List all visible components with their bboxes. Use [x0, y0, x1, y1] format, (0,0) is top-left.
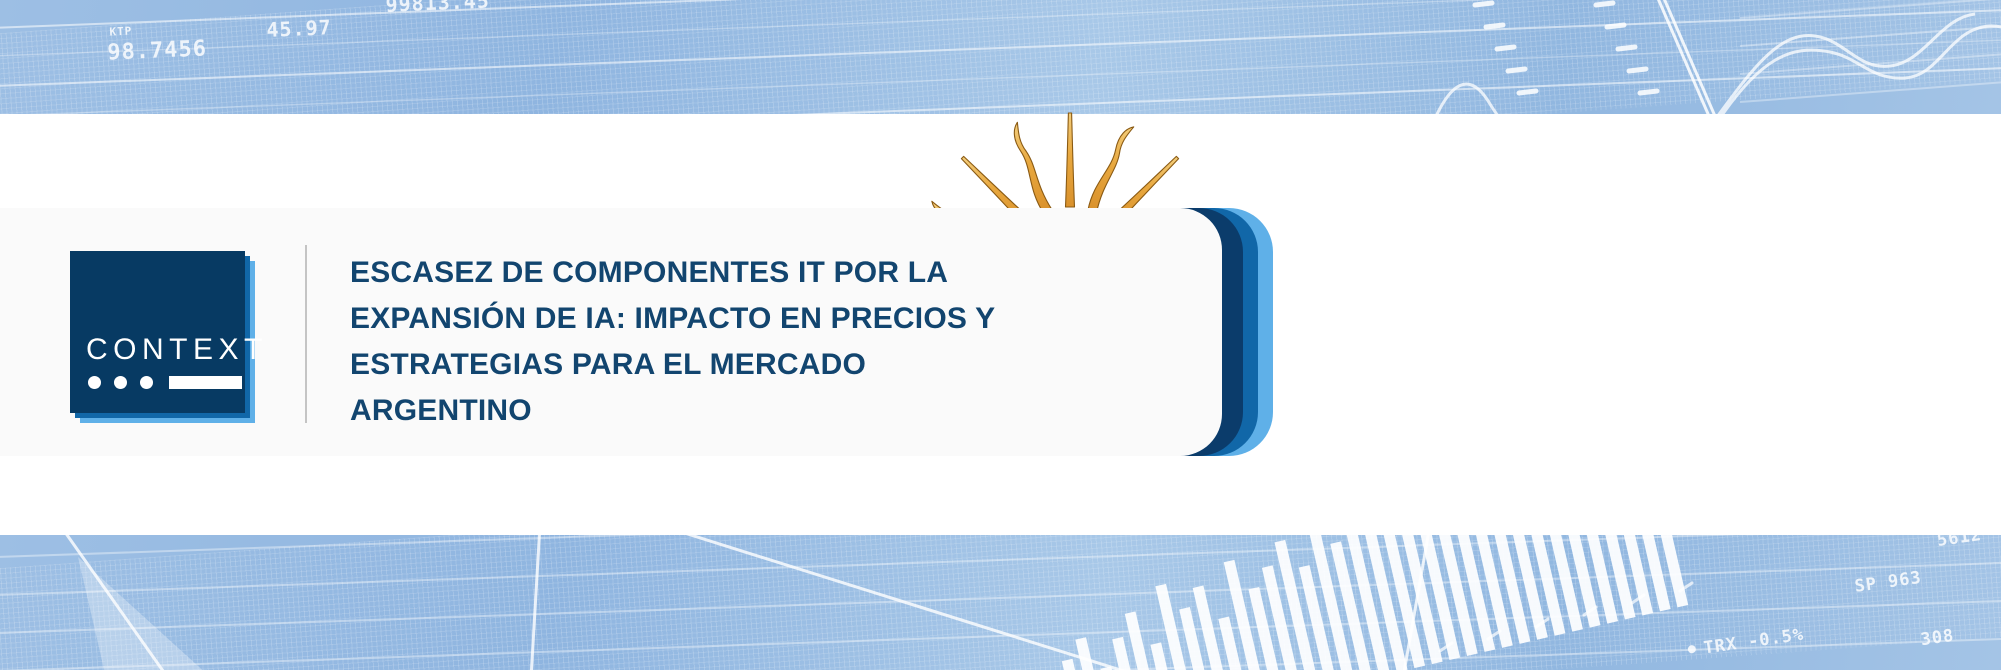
page-title: ESCASEZ DE COMPONENTES IT POR LA EXPANSI… — [350, 250, 1170, 434]
svg-text:TRX -0.5%: TRX -0.5% — [1702, 625, 1805, 659]
svg-text:5612: 5612 — [1936, 535, 1983, 551]
context-logo[interactable]: CONTEXT — [70, 251, 245, 413]
logo-bar — [169, 376, 242, 389]
vertical-divider — [305, 245, 307, 423]
logo-dot-1 — [88, 376, 101, 389]
logo-wordmark: CONTEXT — [86, 333, 268, 367]
bottom-background-graphics: TRX -0.5% SP 963 5612 308 — [0, 535, 2001, 670]
logo-marks — [88, 376, 242, 389]
page-title-line-3: ESTRATEGIAS PARA EL MERCADO — [350, 342, 1170, 388]
page-title-line-2: EXPANSIÓN DE IA: IMPACTO EN PRECIOS Y — [350, 296, 1170, 342]
logo-plate: CONTEXT — [70, 251, 245, 413]
svg-text:308: 308 — [1919, 626, 1955, 650]
svg-text:98.7456: 98.7456 — [107, 36, 208, 65]
bottom-background-strip: TRX -0.5% SP 963 5612 308 — [0, 535, 2001, 670]
top-background-strip: KTP 98.7456 45.97 99813.45 6 — [0, 0, 2001, 114]
svg-text:6: 6 — [0, 55, 2, 80]
svg-text:45.97: 45.97 — [266, 15, 332, 42]
svg-text:KTP: KTP — [109, 24, 132, 38]
svg-text:99813.45: 99813.45 — [385, 0, 490, 17]
logo-dot-3 — [140, 376, 153, 389]
top-background-graphics: KTP 98.7456 45.97 99813.45 6 — [0, 0, 2001, 114]
page-title-line-1: ESCASEZ DE COMPONENTES IT POR LA — [350, 250, 1170, 296]
logo-dot-2 — [114, 376, 127, 389]
banner: KTP 98.7456 45.97 99813.45 6 — [0, 0, 2001, 670]
page-title-line-4: ARGENTINO — [350, 388, 1170, 434]
svg-text:SP 963: SP 963 — [1853, 568, 1923, 597]
